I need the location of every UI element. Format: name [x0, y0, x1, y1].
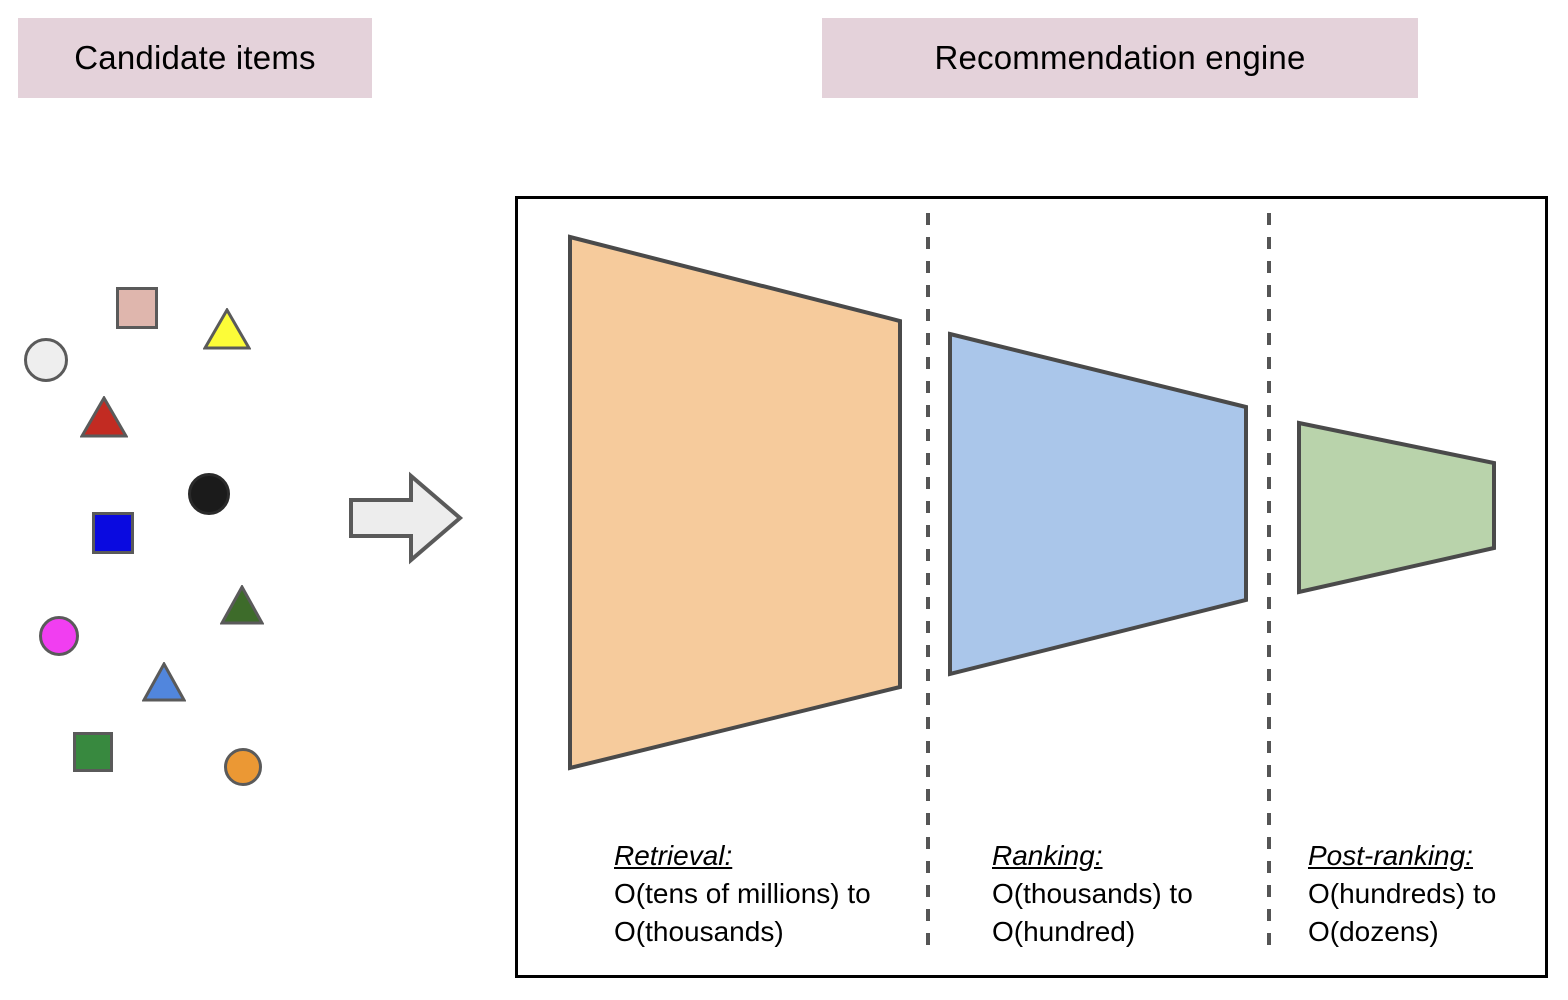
candidate-shape-red-triangle	[80, 396, 128, 438]
recommendation-engine-panel: Retrieval: O(tens of millions) to O(thou…	[515, 196, 1548, 978]
stage-line2-retrieval: O(thousands)	[614, 913, 871, 951]
recommendation-engine-header: Recommendation engine	[822, 18, 1418, 98]
candidate-shape-green-square	[73, 732, 113, 772]
candidate-shape-dark-green-triangle	[220, 585, 264, 625]
candidate-shape-yellow-triangle	[203, 308, 251, 350]
stage-title-post-ranking: Post-ranking:	[1308, 837, 1496, 875]
right-arrow-icon	[348, 470, 464, 566]
candidate-shape-pink-square	[116, 287, 158, 329]
stage-line1-retrieval: O(tens of millions) to	[614, 875, 871, 913]
stage-caption-post-ranking: Post-ranking: O(hundreds) to O(dozens)	[1308, 837, 1496, 951]
stage-line2-ranking: O(hundred)	[992, 913, 1193, 951]
candidate-shape-white-circle	[24, 338, 68, 382]
stage-title-ranking: Ranking:	[992, 837, 1193, 875]
candidate-shape-blue-triangle	[142, 662, 186, 702]
candidate-shape-black-circle	[188, 473, 230, 515]
candidate-items-scatter	[0, 0, 340, 1000]
candidate-shape-magenta-circle	[39, 616, 79, 656]
stage-caption-ranking: Ranking: O(thousands) to O(hundred)	[992, 837, 1193, 951]
stage-caption-retrieval: Retrieval: O(tens of millions) to O(thou…	[614, 837, 871, 951]
recommendation-engine-header-label: Recommendation engine	[934, 39, 1305, 77]
stage-line2-post-ranking: O(dozens)	[1308, 913, 1496, 951]
stage-title-retrieval: Retrieval:	[614, 837, 871, 875]
candidate-shape-blue-square	[92, 512, 134, 554]
stage-line1-ranking: O(thousands) to	[992, 875, 1193, 913]
stage-line1-post-ranking: O(hundreds) to	[1308, 875, 1496, 913]
candidate-shape-orange-circle	[224, 748, 262, 786]
